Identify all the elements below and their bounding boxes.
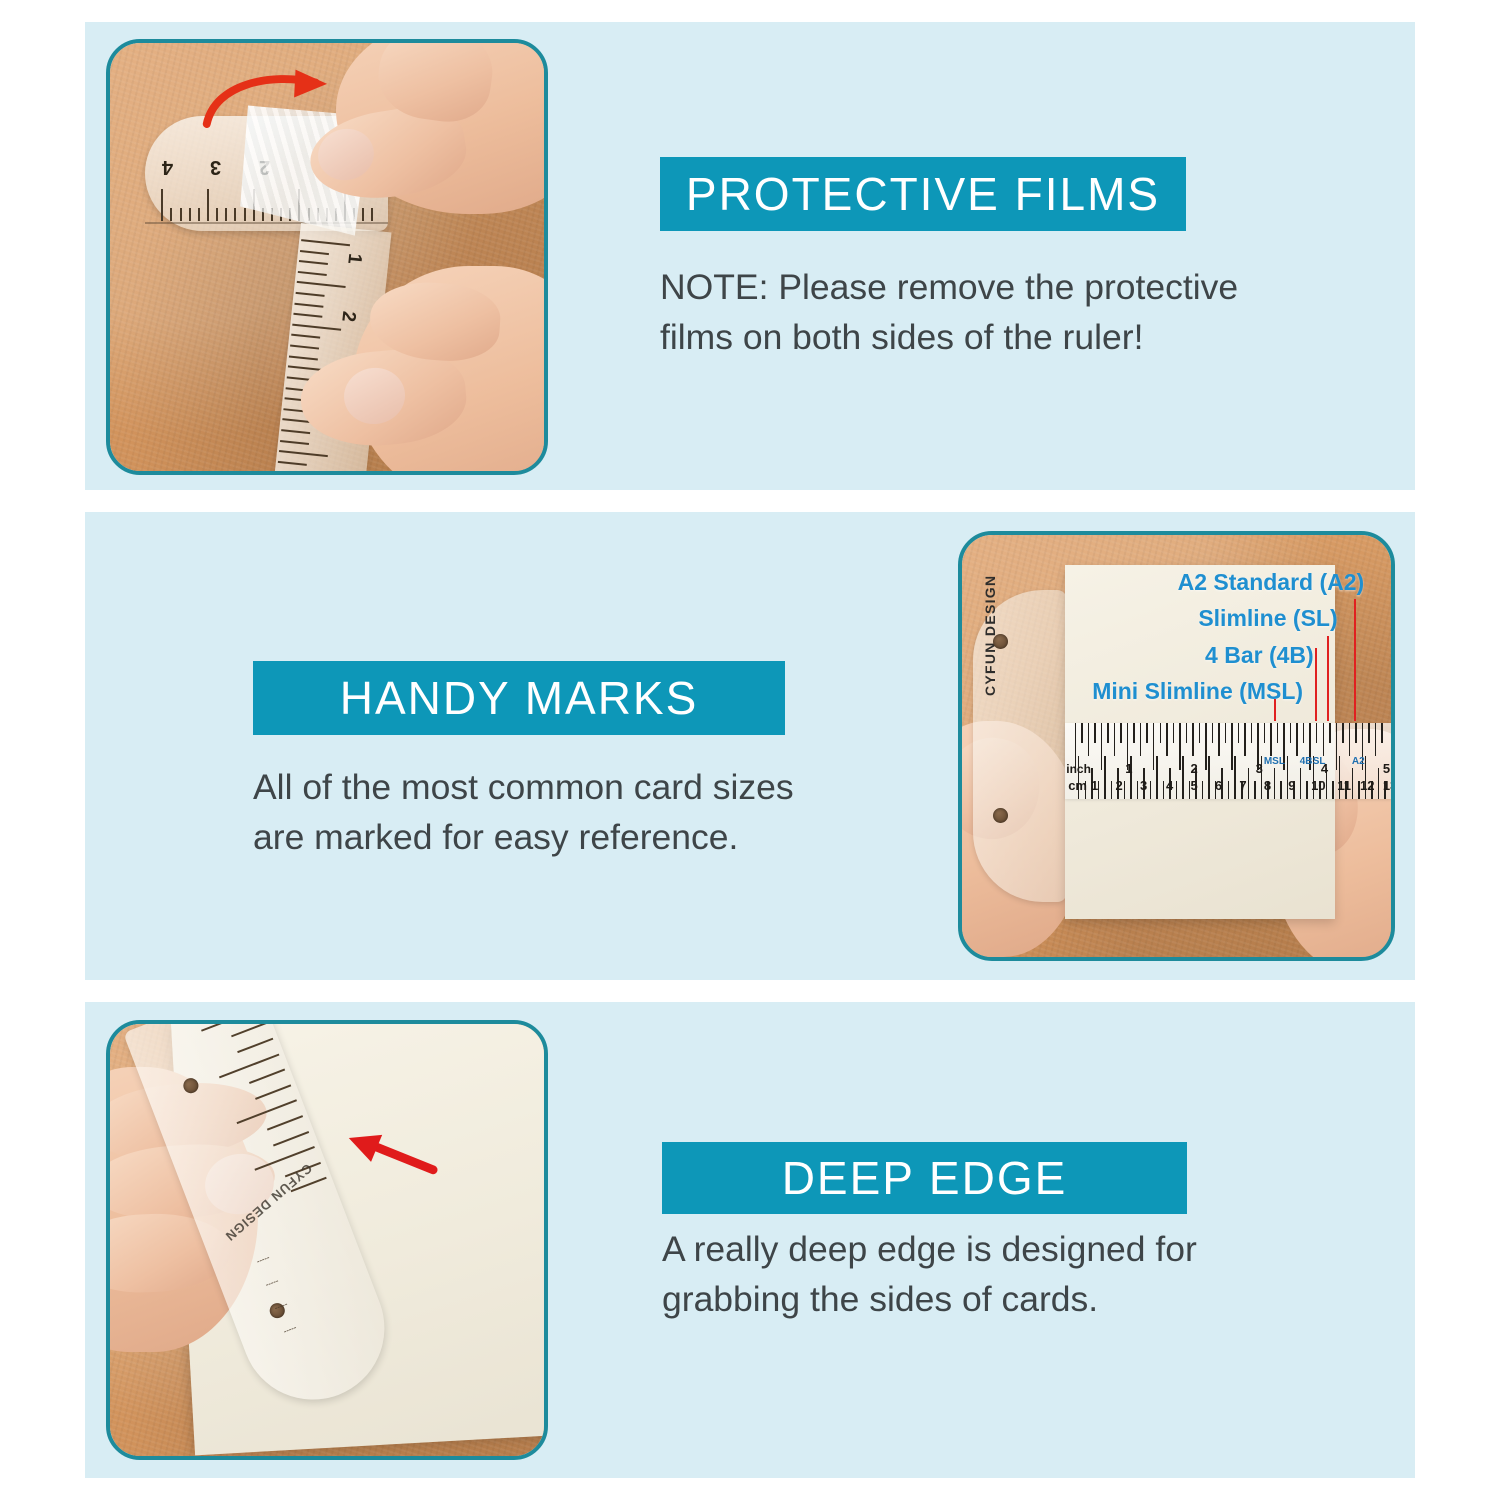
curved-arrow-icon [201, 64, 344, 137]
brand-label: CYFUN DESIGN [222, 1161, 315, 1245]
ruler-body: CYFUN DESIGN [973, 590, 1067, 902]
cm-number: 6 [1215, 778, 1222, 793]
mark-code: 4B [1300, 756, 1313, 767]
photo-deep-edge: CYFUN DESIGN ----- ----- ----- ----- [106, 1020, 548, 1460]
mark-code: A2 [1352, 756, 1365, 767]
feature-panel-handy-marks: HANDY MARKS All of the most common card … [85, 512, 1415, 980]
cm-number: 7 [1239, 778, 1246, 793]
inch-number: 1 [1125, 761, 1132, 776]
ruler-hole [993, 808, 1008, 823]
panel-heading: HANDY MARKS [340, 671, 699, 725]
heading-ribbon-protective-films: PROTECTIVE FILMS [660, 157, 1186, 231]
leader-line-msl [1274, 699, 1276, 720]
inch-number: 2 [1190, 761, 1197, 776]
cm-number: 12 [1360, 778, 1374, 793]
mark-code: MSL [1264, 756, 1285, 767]
annotation-label-msl: Mini Slimline (MSL) [1092, 678, 1303, 705]
ruler-hole [182, 1076, 201, 1095]
mark-code: SL [1313, 756, 1326, 767]
cm-number: 8 [1264, 778, 1271, 793]
inch-number: 5 [1383, 761, 1390, 776]
panel-body-protective-films: NOTE: Please remove the protective films… [660, 262, 1260, 362]
cm-number: 4 [1166, 778, 1173, 793]
cm-number: 11 [1337, 778, 1351, 793]
ruler-number: 4 [162, 155, 173, 178]
ruler-scale-strip: inch [1065, 723, 1391, 799]
panel-heading: PROTECTIVE FILMS [686, 167, 1160, 221]
annotation-label-a2: A2 Standard (A2) [1178, 569, 1365, 596]
feature-panel-deep-edge: CYFUN DESIGN ----- ----- ----- ----- DEE… [85, 1002, 1415, 1478]
annotation-label-4b: 4 Bar (4B) [1205, 642, 1314, 669]
straight-arrow-icon [344, 1128, 439, 1180]
leader-line-4b [1315, 648, 1317, 721]
cm-number: 10 [1311, 778, 1325, 793]
annotation-label-sl: Slimline (SL) [1198, 605, 1337, 632]
heading-ribbon-handy-marks: HANDY MARKS [253, 661, 785, 735]
ruler-number: 3 [210, 155, 221, 178]
photo-protective-films: 4 3 2 [106, 39, 548, 475]
ruler-hole [993, 634, 1008, 649]
cm-number: 1 [1091, 778, 1098, 793]
panel-heading: DEEP EDGE [782, 1151, 1068, 1205]
cm-number: 2 [1115, 778, 1122, 793]
feature-panel-protective-films: 4 3 2 [85, 22, 1415, 490]
panel-body-handy-marks: All of the most common card sizes are ma… [253, 762, 853, 862]
leader-line-sl [1327, 636, 1329, 721]
annotation-group: A2 Standard (A2) Slimline (SL) 4 Bar (4B… [1104, 569, 1370, 721]
cm-number: 3 [1140, 778, 1147, 793]
infographic-page: 4 3 2 [0, 0, 1500, 1500]
photo-handy-marks: CYFUN DESIGN inch [958, 531, 1395, 961]
cm-number: 5 [1190, 778, 1197, 793]
cm-number: 9 [1288, 778, 1295, 793]
ruler-number: 1 [342, 252, 365, 265]
panel-body-deep-edge: A really deep edge is designed for grabb… [662, 1224, 1262, 1324]
cm-number: 13 [1383, 778, 1395, 793]
ruler-number: 2 [336, 310, 359, 323]
heading-ribbon-deep-edge: DEEP EDGE [662, 1142, 1187, 1214]
leader-line-a2 [1354, 599, 1356, 721]
inch-number: 3 [1256, 761, 1263, 776]
cm-unit-label: cm [1068, 778, 1087, 793]
